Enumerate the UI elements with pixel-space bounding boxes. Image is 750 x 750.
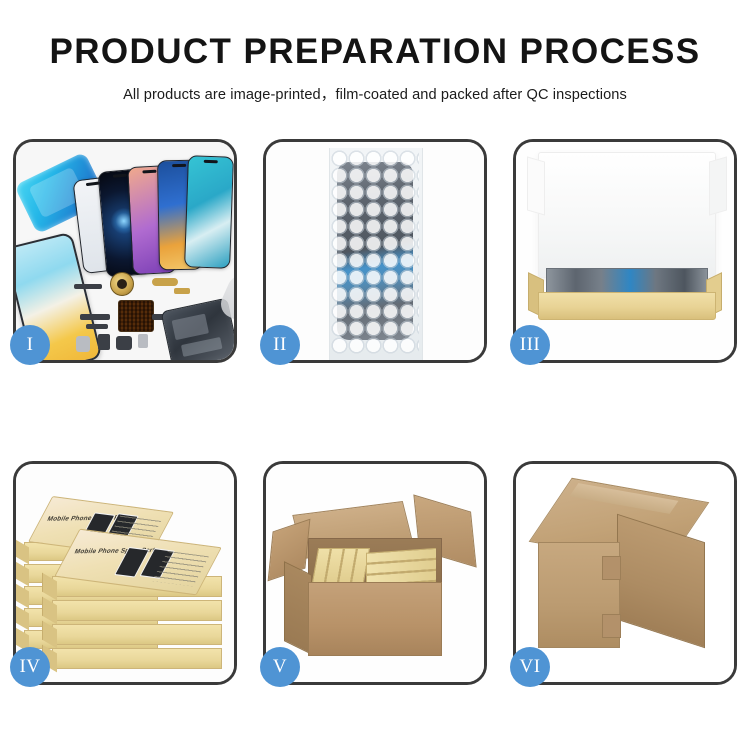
bubble-wrap-icon — [331, 150, 419, 354]
part-bracket-icon — [98, 334, 110, 350]
foam-liner-icon — [538, 152, 716, 278]
part-button-flex-icon — [152, 278, 178, 286]
step-1-image — [16, 142, 234, 360]
step-badge-4: IV — [10, 647, 50, 687]
part-screw-set-icon — [138, 334, 148, 348]
sealed-carton-right-face — [617, 514, 705, 649]
part-cable-2-icon — [86, 324, 108, 329]
carton-tab-upper — [602, 556, 621, 580]
page-subtitle: All products are image-printed，film-coat… — [0, 83, 750, 104]
phone-fan-group — [76, 156, 234, 278]
header: PRODUCT PREPARATION PROCESS All products… — [0, 0, 750, 104]
process-step-panel-4[interactable]: Mobile Phone Spare Parts Mobile Phone Sp… — [13, 461, 237, 685]
step-badge-2: II — [260, 325, 300, 365]
carton-tab-lower — [602, 614, 621, 638]
step-2-image — [266, 142, 484, 360]
part-taptic-icon — [116, 336, 132, 350]
product-preparation-infographic: PRODUCT PREPARATION PROCESS All products… — [0, 0, 750, 750]
step-badge-1: I — [10, 325, 50, 365]
spare-parts-group — [74, 270, 234, 360]
step-3-image — [516, 142, 734, 360]
page-title: PRODUCT PREPARATION PROCESS — [0, 34, 750, 69]
process-step-panel-3[interactable]: III — [513, 139, 737, 363]
carton-front-face — [308, 582, 442, 656]
step-6-image — [516, 464, 734, 682]
part-flex-strip-icon — [74, 284, 102, 289]
kraft-box-front — [538, 292, 716, 320]
phone-device-5-icon — [184, 155, 234, 269]
retail-box-stack: Mobile Phone Spare Parts Mobile Phone Sp… — [18, 480, 234, 676]
part-cable-1-icon — [80, 314, 110, 320]
step-badge-5: V — [260, 647, 300, 687]
step-badge-6: VI — [510, 647, 550, 687]
part-camera-lens-icon — [110, 272, 134, 296]
step-4-image: Mobile Phone Spare Parts Mobile Phone Sp… — [16, 464, 234, 682]
step-badge-3: III — [510, 325, 550, 365]
part-speaker-mesh-icon — [118, 300, 154, 332]
part-sim-tray-icon — [76, 336, 90, 352]
process-step-panel-5[interactable]: V — [263, 461, 487, 685]
process-step-grid: I II — [13, 139, 737, 685]
process-step-panel-1[interactable]: I — [13, 139, 237, 363]
process-step-panel-6[interactable]: VI — [513, 461, 737, 685]
step-5-image — [266, 464, 484, 682]
process-step-panel-2[interactable]: II — [263, 139, 487, 363]
part-connector-icon — [174, 288, 190, 294]
